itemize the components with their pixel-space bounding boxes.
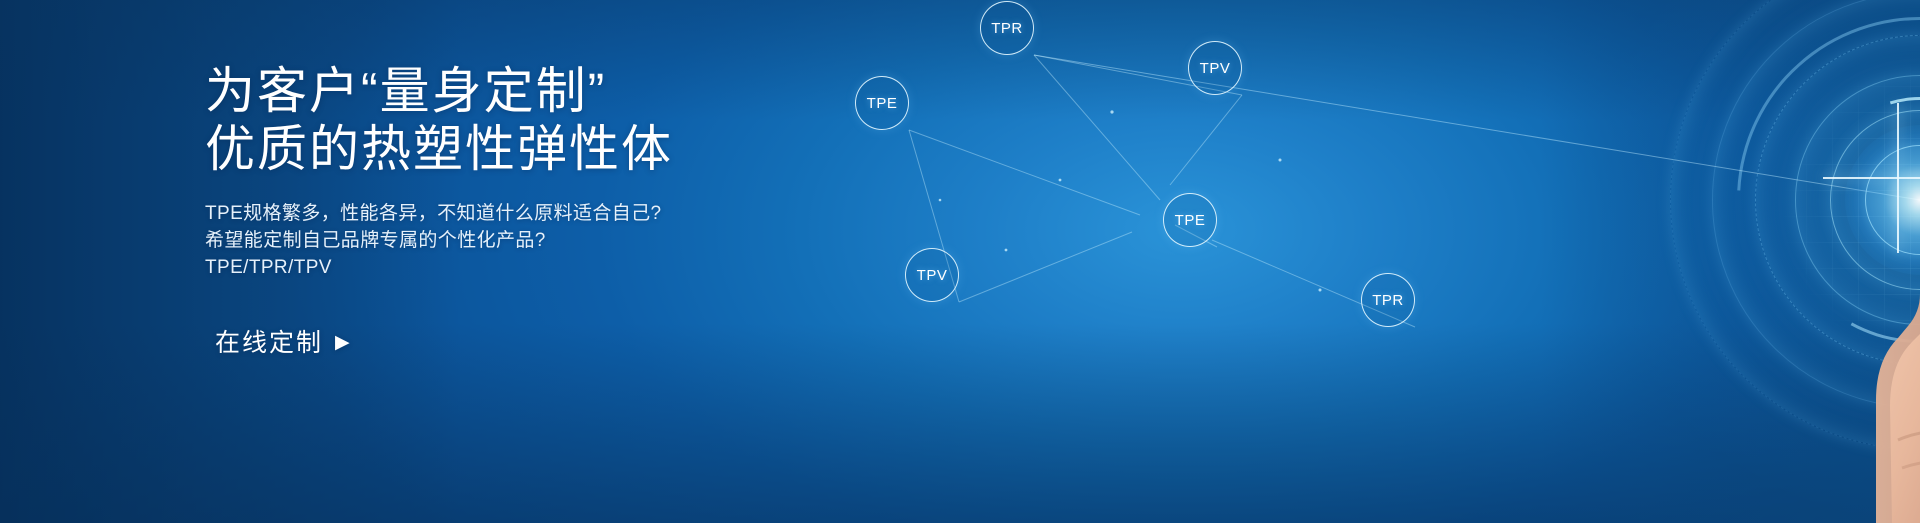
online-customization-button[interactable]: 在线定制 ▶: [215, 323, 352, 359]
badge-label: TPR: [1372, 292, 1404, 309]
hand-illustration: [1780, 150, 1920, 523]
badge-tpr-1[interactable]: TPR: [980, 1, 1034, 55]
subtitle-line-1: TPE规格繁多，性能各异，不知道什么原料适合自己?: [205, 200, 965, 227]
play-arrow-icon: ▶: [335, 333, 352, 352]
subtitle-line-3: TPE/TPR/TPV: [205, 254, 965, 281]
subtitle: TPE规格繁多，性能各异，不知道什么原料适合自己? 希望能定制自己品牌专属的个性…: [205, 200, 965, 281]
badge-tpr-2[interactable]: TPR: [1361, 273, 1415, 327]
badge-label: TPR: [991, 20, 1023, 37]
hero-banner: TPR TPV TPE TPE TPV TPR 为客户“量身定制” 优质的热塑性…: [0, 0, 1920, 523]
badge-tpv-1[interactable]: TPV: [1188, 41, 1242, 95]
headline-line-1: 为客户“量身定制”: [205, 63, 606, 119]
subtitle-line-2: 希望能定制自己品牌专属的个性化产品?: [205, 227, 965, 254]
badge-tpe-2[interactable]: TPE: [1163, 193, 1217, 247]
badge-label: TPV: [1200, 60, 1231, 77]
headline-line-2: 优质的热塑性弹性体: [205, 120, 965, 178]
badge-label: TPE: [1175, 212, 1206, 229]
cta-label: 在线定制: [215, 323, 323, 359]
headline: 为客户“量身定制” 优质的热塑性弹性体: [205, 62, 965, 178]
hero-copy: 为客户“量身定制” 优质的热塑性弹性体 TPE规格繁多，性能各异，不知道什么原料…: [205, 62, 965, 359]
